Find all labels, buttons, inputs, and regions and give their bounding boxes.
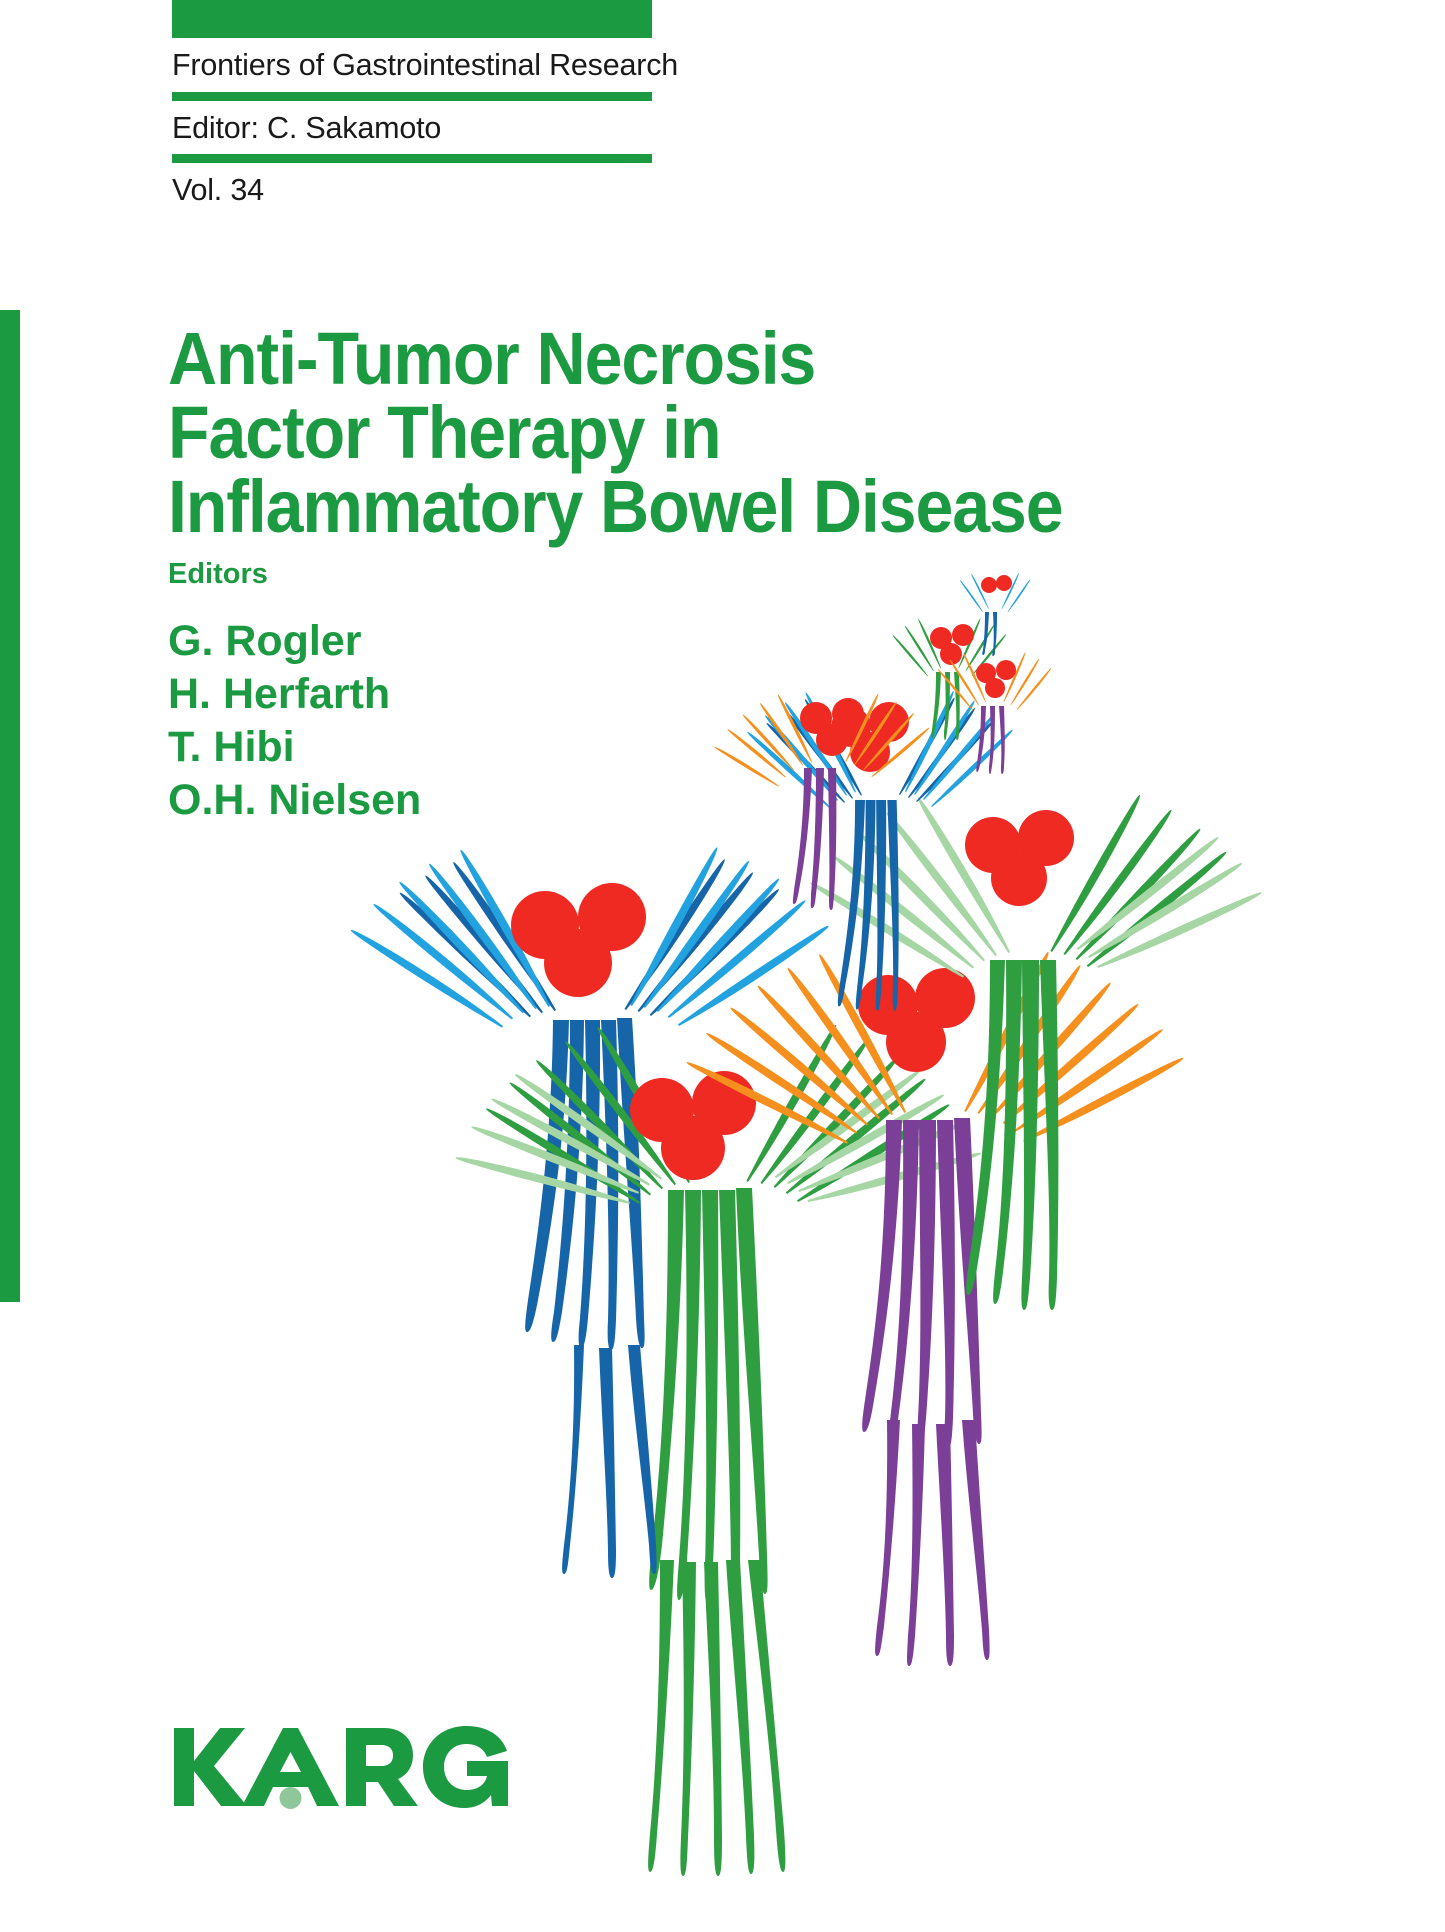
karger-logo-icon bbox=[170, 1722, 510, 1812]
series-name: Frontiers of Gastrointestinal Research bbox=[172, 38, 652, 92]
antibody-purple-tails bbox=[875, 1420, 989, 1666]
antigen-cluster bbox=[800, 698, 864, 756]
editor-name-2: H. Herfarth bbox=[168, 668, 421, 721]
antibody-purple-tiny bbox=[937, 652, 1052, 774]
antigen-cluster bbox=[976, 660, 1016, 698]
series-editor: Editor: C. Sakamoto bbox=[172, 101, 652, 155]
antigen-cluster bbox=[630, 1071, 756, 1180]
antibody-green-large bbox=[455, 1024, 983, 1604]
editor-name-3: T. Hibi bbox=[168, 721, 421, 774]
antigen-cluster bbox=[965, 810, 1074, 906]
antibody-orange-small bbox=[714, 693, 931, 910]
series-top-bar bbox=[172, 0, 652, 38]
antibody-orange-purple-large bbox=[685, 951, 1185, 1448]
title-line-1: Anti-Tumor Necrosis bbox=[168, 322, 1051, 396]
antibody-blue-small bbox=[746, 690, 1015, 1010]
antigen-cluster bbox=[831, 702, 909, 772]
editors-label: Editors bbox=[168, 560, 421, 589]
series-rule-1 bbox=[172, 92, 652, 101]
antibody-green-tails bbox=[648, 1560, 785, 1876]
antibody-blue-tails bbox=[562, 1345, 656, 1578]
title-line-3: Inflammatory Bowel Disease bbox=[168, 470, 1051, 544]
antibody-blue-large bbox=[349, 846, 831, 1350]
antibody-green-tiny bbox=[892, 618, 1007, 740]
editors-block: Editors G. Rogler H. Herfarth T. Hibi O.… bbox=[168, 560, 421, 827]
antibody-green-right bbox=[809, 794, 1264, 1310]
series-volume: Vol. 34 bbox=[172, 163, 652, 206]
series-rule-2 bbox=[172, 154, 652, 163]
editor-name-4: O.H. Nielsen bbox=[168, 774, 421, 827]
editor-name-1: G. Rogler bbox=[168, 615, 421, 668]
publisher-logo bbox=[170, 1722, 510, 1812]
antigen-cluster bbox=[511, 883, 646, 997]
antibody-blue-tiny bbox=[959, 573, 1031, 656]
antigen-cluster bbox=[930, 624, 974, 665]
title-line-2: Factor Therapy in bbox=[168, 396, 1051, 470]
antigen-cluster bbox=[858, 968, 975, 1072]
book-cover: Frontiers of Gastrointestinal Research E… bbox=[0, 0, 1445, 1932]
antigen-cluster bbox=[981, 575, 1012, 593]
antibody-illustration bbox=[0, 0, 1445, 1932]
page-title: Anti-Tumor Necrosis Factor Therapy in In… bbox=[168, 322, 1051, 544]
series-header: Frontiers of Gastrointestinal Research E… bbox=[172, 0, 652, 206]
left-accent-bar bbox=[0, 310, 20, 1302]
